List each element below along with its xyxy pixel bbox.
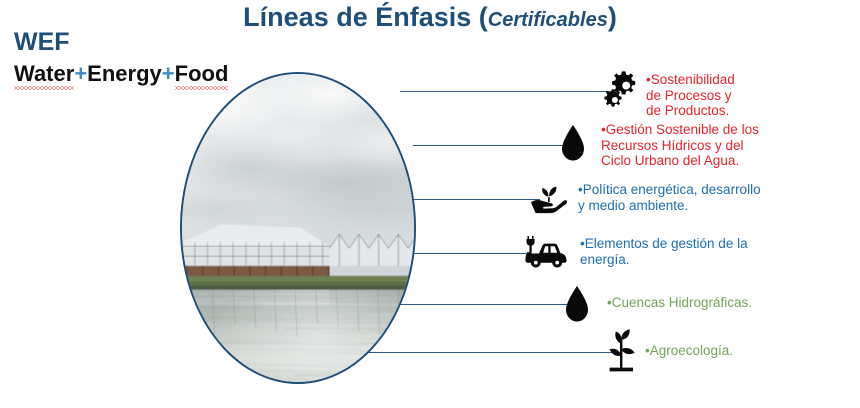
electric-car-icon: [521, 234, 571, 270]
wef-acronym: WEF: [14, 28, 228, 56]
connector-line-2: [413, 145, 565, 146]
wef-block: WEF Water+Energy+Food: [14, 28, 228, 87]
water-drop-icon: [563, 285, 591, 325]
central-circular-photo: [180, 72, 416, 384]
emphasis-label-6: •Agroecología.: [645, 343, 733, 359]
emphasis-label-4: •Elementos de gestión de la energía.: [580, 236, 748, 267]
wef-word-energy: Energy: [87, 61, 162, 87]
connector-line-3: [412, 199, 540, 200]
page-title-main: Líneas de Énfasis (: [243, 2, 488, 32]
emphasis-label-2: •Gestión Sostenible de los Recursos Hídr…: [601, 122, 759, 169]
page-title-close-paren: ): [608, 2, 617, 32]
hand-holding-plant-icon: [527, 181, 569, 215]
seedling-icon: [600, 326, 642, 374]
wef-word-food: Food: [175, 61, 229, 87]
connector-line-1: [400, 91, 615, 92]
emphasis-label-3: •Política energética, desarrollo y medio…: [578, 182, 761, 213]
connector-line-5: [385, 304, 570, 305]
wef-word-water: Water: [14, 61, 74, 87]
page-title-certificables: Certificables: [488, 9, 608, 31]
greenhouse-photo: [182, 74, 414, 382]
emphasis-label-5: •Cuencas Hidrográficas.: [607, 295, 752, 311]
infographic-slide: Líneas de Énfasis (Certificables) WEF Wa…: [0, 0, 860, 408]
connector-line-6: [330, 352, 615, 353]
emphasis-label-1: •Sostenibilidad de Procesos y de Product…: [646, 72, 735, 119]
wef-plus-1: +: [74, 61, 87, 86]
connector-line-4: [404, 253, 532, 254]
water-drop-icon: [559, 124, 587, 164]
wef-expansion: Water+Energy+Food: [14, 61, 228, 87]
wef-plus-2: +: [162, 61, 175, 86]
gears-icon: [600, 70, 642, 112]
